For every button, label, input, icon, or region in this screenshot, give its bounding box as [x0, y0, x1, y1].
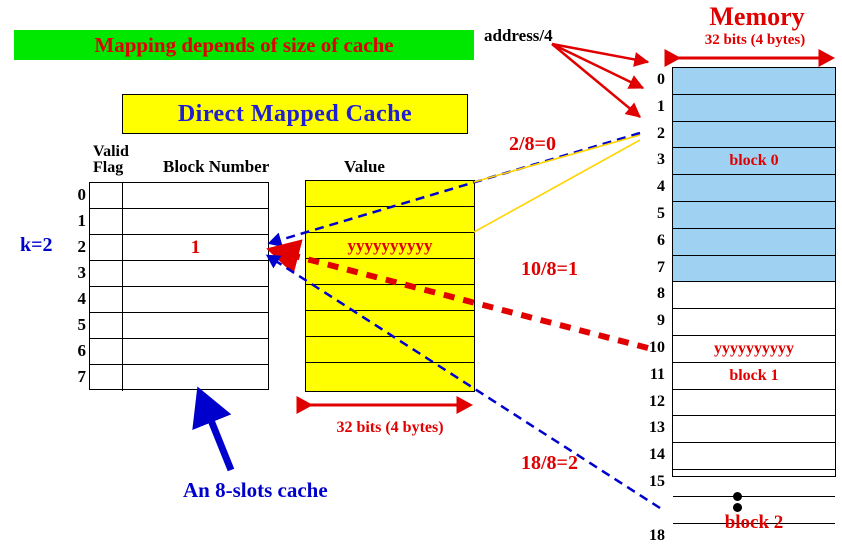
cache-row: [90, 183, 268, 209]
cache-caption: An 8-slots cache: [183, 478, 328, 503]
memory-title: Memory: [672, 2, 842, 32]
memory-row: [673, 68, 835, 95]
cache-row: [90, 261, 268, 287]
memory-row-index: 7: [643, 259, 665, 277]
cache-value-cell: [306, 181, 474, 207]
cache-valid-cell: [90, 365, 123, 391]
memory-row-index: 9: [643, 312, 665, 330]
cache-block-cell: [123, 339, 268, 364]
memory-row: [673, 175, 835, 202]
memory-row: block 1: [673, 363, 835, 390]
mapping-label-2: 18/8=2: [521, 452, 578, 475]
cache-row: [90, 365, 268, 391]
cache-block-cell: [123, 287, 268, 312]
memory-row-index: 10: [643, 339, 665, 357]
memory-row-index: 12: [643, 393, 665, 411]
cache-caption-arrow: [200, 393, 231, 470]
cache-row: 1: [90, 235, 268, 261]
mapping-banner: Mapping depends of size of cache: [14, 30, 474, 60]
cache-row: [90, 313, 268, 339]
memory-row: [673, 256, 835, 283]
cache-valid-cell: [90, 183, 123, 208]
cache-row-index: 1: [68, 211, 86, 231]
address-fan-arrows: [552, 44, 648, 117]
memory-row: [673, 443, 835, 470]
memory-row: [673, 202, 835, 229]
cache-row-index: 3: [68, 263, 86, 283]
mapping-banner-text: Mapping depends of size of cache: [94, 33, 393, 58]
memory-row-index: 5: [643, 205, 665, 223]
header-valid-line2: Flag: [93, 160, 129, 176]
value-guide-lines: [474, 135, 640, 232]
cache-row-index: 4: [68, 289, 86, 309]
cache-row-index: 6: [68, 341, 86, 361]
cache-row-index: 7: [68, 367, 86, 387]
ellipsis-dot-1: [733, 492, 742, 501]
memory-row: [673, 470, 835, 497]
mapping-label-0: 2/8=0: [509, 133, 556, 156]
mapping-label-1: 10/8=1: [521, 258, 578, 281]
memory-row: [673, 390, 835, 417]
cache-value-cell: [306, 285, 474, 311]
memory-row: yyyyyyyyyy: [673, 336, 835, 363]
address-div-label: address/4: [484, 26, 553, 46]
memory-row-index: 18: [643, 527, 665, 545]
cache-value-column: yyyyyyyyyy: [305, 180, 475, 392]
memory-row-index: 3: [643, 151, 665, 169]
header-valid-line1: Valid: [93, 144, 129, 160]
cache-row-index: 0: [68, 185, 86, 205]
cache-table: 1: [89, 182, 269, 390]
cache-row: [90, 209, 268, 235]
cache-block-cell: 1: [123, 235, 268, 260]
memory-row: block 0: [673, 148, 835, 175]
memory-row-index: 11: [643, 366, 665, 384]
memory-row-index: 6: [643, 232, 665, 250]
cache-row: [90, 287, 268, 313]
memory-row-index: 4: [643, 178, 665, 196]
memory-table: block 0yyyyyyyyyyblock 1: [672, 67, 836, 477]
cache-block-cell: [123, 209, 268, 234]
memory-row-index: 0: [643, 71, 665, 89]
memory-row: [673, 95, 835, 122]
cache-block-cell: [123, 313, 268, 338]
cache-value-cell: [306, 259, 474, 285]
cache-valid-cell: [90, 261, 123, 286]
header-block-number: Block Number: [163, 157, 269, 177]
memory-block2-label: block 2: [672, 512, 836, 534]
cache-block-cell: [123, 183, 268, 208]
memory-row-index: 15: [643, 473, 665, 491]
cache-value-cell: [306, 363, 474, 389]
memory-row: [673, 229, 835, 256]
cache-valid-cell: [90, 209, 123, 234]
cache-row-index: 2: [68, 237, 86, 257]
memory-row-index: 2: [643, 125, 665, 143]
cache-row-index: 5: [68, 315, 86, 335]
memory-row-index: 8: [643, 285, 665, 303]
cache-value-cell: [306, 207, 474, 233]
cache-value-cell: yyyyyyyyyy: [306, 233, 474, 259]
memory-row-index: 13: [643, 419, 665, 437]
memory-row: [673, 122, 835, 149]
k-label: k=2: [20, 234, 53, 257]
memory-row: [673, 416, 835, 443]
memory-bits-label: 32 bits (4 bytes): [668, 32, 842, 49]
cache-width-label: 32 bits (4 bytes): [305, 419, 475, 437]
memory-row: [673, 282, 835, 309]
memory-row-index: 14: [643, 446, 665, 464]
cache-valid-cell: [90, 287, 123, 312]
ellipsis-dot-2: [733, 503, 742, 512]
cache-block-cell: [123, 365, 268, 391]
header-value: Value: [344, 157, 385, 177]
title-box: Direct Mapped Cache: [122, 94, 468, 134]
page-title: Direct Mapped Cache: [178, 101, 412, 128]
cache-valid-cell: [90, 339, 123, 364]
cache-valid-cell: [90, 313, 123, 338]
memory-row-index: 1: [643, 98, 665, 116]
memory-row: [673, 309, 835, 336]
cache-valid-cell: [90, 235, 123, 260]
cache-block-cell: [123, 261, 268, 286]
cache-row: [90, 339, 268, 365]
cache-value-cell: [306, 311, 474, 337]
header-valid-flag: Valid Flag: [93, 144, 129, 176]
cache-value-cell: [306, 337, 474, 363]
